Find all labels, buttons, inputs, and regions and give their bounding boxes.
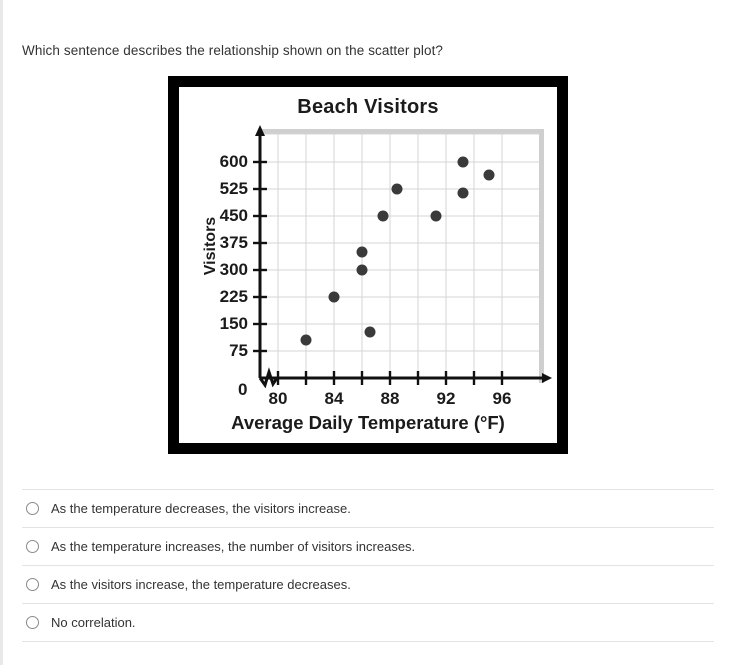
question-text: Which sentence describes the relationshi… bbox=[22, 42, 443, 60]
y-tick-label: 450 bbox=[194, 206, 248, 226]
y-tick-label: 375 bbox=[194, 233, 248, 253]
y-tick-label: 225 bbox=[194, 287, 248, 307]
y-tick-label: 150 bbox=[194, 314, 248, 334]
y-tick-label: 525 bbox=[194, 179, 248, 199]
data-point bbox=[378, 211, 389, 222]
x-tick-label: 96 bbox=[482, 389, 522, 409]
x-tick-label: 92 bbox=[426, 389, 466, 409]
answer-options: As the temperature decreases, the visito… bbox=[22, 489, 714, 642]
data-point bbox=[392, 184, 403, 195]
radio-button-icon[interactable] bbox=[26, 578, 39, 591]
option-label: As the temperature decreases, the visito… bbox=[51, 501, 351, 517]
data-point bbox=[457, 157, 468, 168]
radio-button-icon[interactable] bbox=[26, 540, 39, 553]
radio-button-icon[interactable] bbox=[26, 616, 39, 629]
option-row[interactable]: As the visitors increase, the temperatur… bbox=[22, 566, 714, 604]
radio-button-icon[interactable] bbox=[26, 502, 39, 515]
option-label: As the temperature increases, the number… bbox=[51, 539, 415, 555]
option-row[interactable]: No correlation. bbox=[22, 604, 714, 642]
data-point bbox=[301, 335, 312, 346]
origin-label: 0 bbox=[238, 380, 247, 400]
data-point bbox=[365, 326, 376, 337]
data-point bbox=[457, 187, 468, 198]
x-tick-label: 84 bbox=[314, 389, 354, 409]
y-tick-label: 600 bbox=[194, 152, 248, 172]
scatter-plot-figure: Beach Visitors Visitors Average Daily Te… bbox=[168, 76, 568, 454]
option-row[interactable]: As the temperature increases, the number… bbox=[22, 528, 714, 566]
y-tick-label: 300 bbox=[194, 260, 248, 280]
data-point bbox=[431, 211, 442, 222]
data-point bbox=[357, 265, 368, 276]
data-point bbox=[329, 292, 340, 303]
option-label: No correlation. bbox=[51, 615, 136, 631]
option-label: As the visitors increase, the temperatur… bbox=[51, 577, 351, 593]
x-tick-label: 88 bbox=[370, 389, 410, 409]
plot-area: 7515022530037545052560080848892960 bbox=[179, 87, 557, 443]
left-rail bbox=[0, 0, 3, 665]
y-tick-label: 75 bbox=[194, 341, 248, 361]
x-tick-label: 80 bbox=[258, 389, 298, 409]
option-row[interactable]: As the temperature decreases, the visito… bbox=[22, 489, 714, 528]
data-point bbox=[357, 247, 368, 258]
data-point bbox=[484, 169, 495, 180]
